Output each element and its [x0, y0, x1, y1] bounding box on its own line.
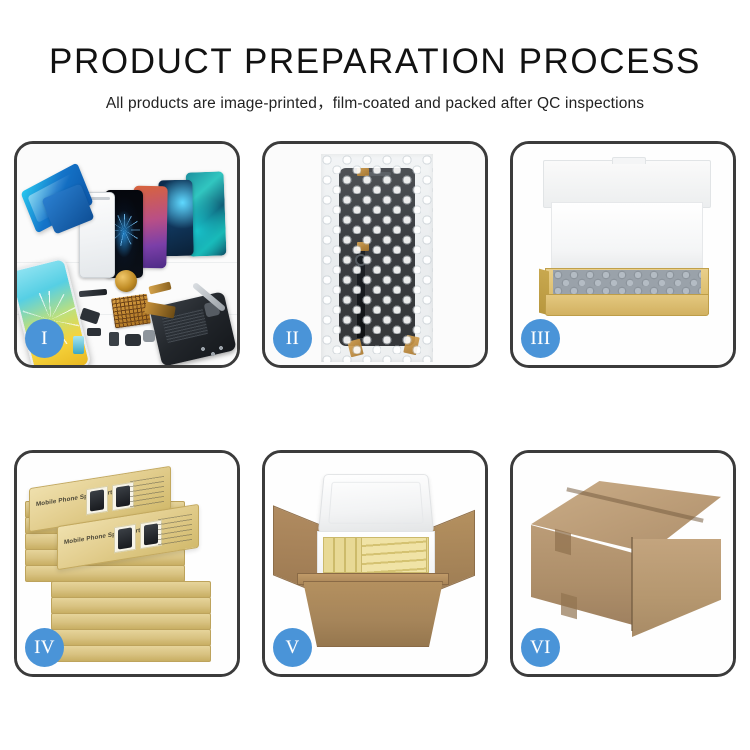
box-spec-text-block [158, 514, 192, 547]
page-title: PRODUCT PREPARATION PROCESS [0, 42, 750, 82]
step-badge-6: VI [521, 628, 560, 667]
box-front-panel-icon [545, 294, 709, 316]
tape-icon [555, 529, 571, 556]
small-part-icon [87, 328, 101, 336]
step-badge-1: I [25, 319, 64, 358]
small-part-icon [73, 336, 84, 354]
page-header: PRODUCT PREPARATION PROCESS All products… [0, 42, 750, 113]
step-badge-2: II [273, 319, 312, 358]
inner-kraft-boxes-icon [361, 537, 427, 573]
box-lid-icon [543, 160, 711, 208]
kraft-box-layer [51, 645, 211, 662]
process-step-grid: I II [14, 141, 736, 689]
flex-cable-icon [148, 281, 171, 294]
box-spec-text-block [130, 476, 164, 509]
page-subtitle: All products are image-printed，film-coat… [0, 91, 750, 113]
process-step-card-1: I [14, 141, 240, 368]
carton-side-face-icon [632, 539, 721, 637]
step-badge-3: III [521, 319, 560, 358]
process-step-card-3: III [510, 141, 736, 368]
kraft-box-layer [25, 565, 185, 582]
process-step-card-5: V [262, 450, 488, 677]
kraft-box-layer [51, 597, 211, 614]
speaker-strip-icon [79, 289, 107, 297]
box-window-icon [86, 486, 108, 515]
kraft-box-layer [51, 581, 211, 598]
small-part-icon [80, 308, 101, 325]
process-step-card-6: VI [510, 450, 736, 677]
product-preparation-process-page: PRODUCT PREPARATION PROCESS All products… [0, 0, 750, 750]
bubble-wrap-bag-icon [321, 154, 433, 362]
vibration-motor-icon [115, 270, 137, 292]
process-step-card-2: II [262, 141, 488, 368]
carton-edge-icon [631, 537, 633, 631]
bubble-texture [321, 154, 433, 362]
step-badge-5: V [273, 628, 312, 667]
step-badge-4: IV [25, 628, 64, 667]
foam-sheet-icon [551, 202, 703, 272]
small-part-icon [125, 334, 141, 346]
kraft-box-layer [51, 613, 211, 630]
styrofoam-lid-icon [318, 474, 434, 533]
box-window-icon [114, 524, 136, 553]
tape-icon [561, 593, 577, 620]
kraft-box-layer [51, 629, 211, 646]
carton-body-icon [303, 581, 443, 647]
process-step-card-4: Mobile Phone Spare Parts Mobile Phone Sp… [14, 450, 240, 677]
screws-icon [199, 345, 225, 361]
small-part-icon [143, 330, 155, 342]
small-part-icon [109, 332, 119, 346]
